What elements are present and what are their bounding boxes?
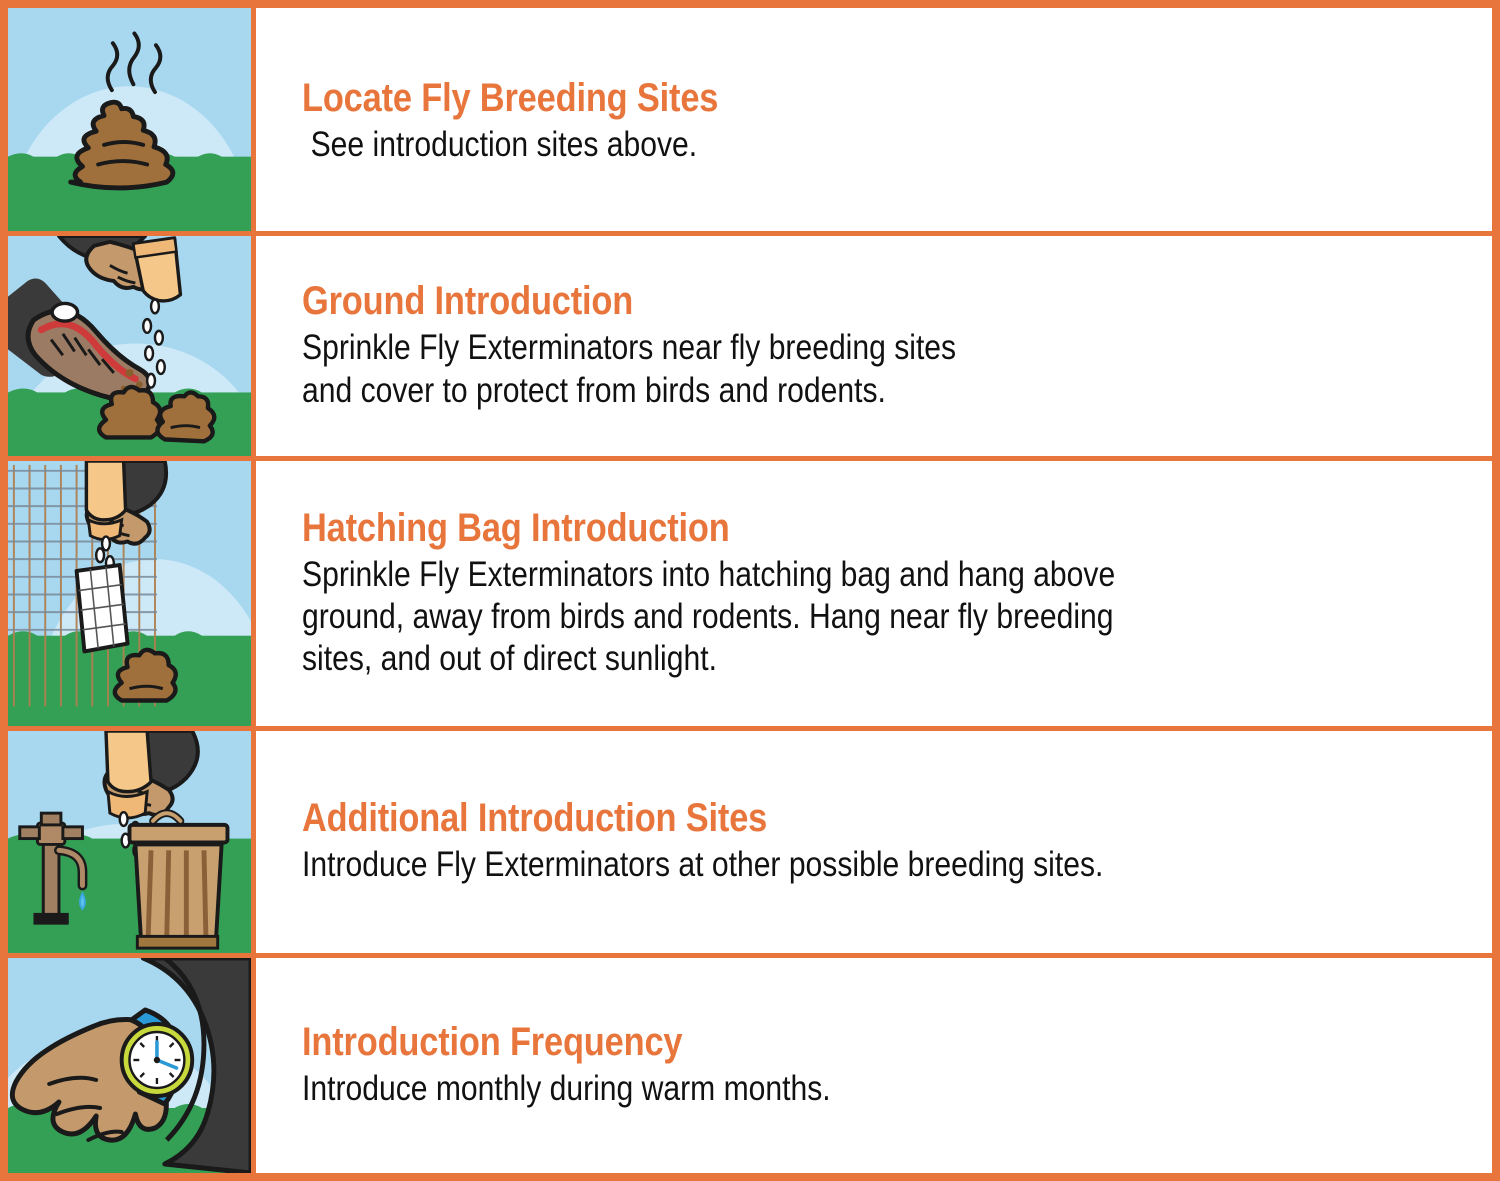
instruction-row: Ground Introduction Sprinkle Fly Extermi… bbox=[8, 236, 1492, 461]
instruction-row-list: Locate Fly Breeding Sites See introducti… bbox=[8, 8, 1492, 1173]
row-heading: Hatching Bag Introduction bbox=[302, 507, 1325, 550]
row-heading: Additional Introduction Sites bbox=[302, 797, 1325, 840]
instruction-text-block: Hatching Bag Introduction Sprinkle Fly E… bbox=[256, 461, 1492, 726]
row-heading: Locate Fly Breeding Sites bbox=[302, 77, 1325, 120]
row-body-text: See introduction sites above. bbox=[302, 124, 1325, 167]
row-body-text: Introduce monthly during warm months. bbox=[302, 1068, 1325, 1111]
boot-and-hand-sprinkling-packet-illustration bbox=[8, 236, 256, 456]
instruction-panel: Locate Fly Breeding Sites See introducti… bbox=[0, 0, 1500, 1181]
instruction-row: Introduction Frequency Introduce monthly… bbox=[8, 958, 1492, 1173]
instruction-row: Hatching Bag Introduction Sprinkle Fly E… bbox=[8, 461, 1492, 731]
instruction-text-block: Ground Introduction Sprinkle Fly Extermi… bbox=[256, 236, 1492, 456]
row-body-text: Sprinkle Fly Exterminators near fly bree… bbox=[302, 327, 1325, 412]
wrist-watch-on-arm-illustration bbox=[8, 958, 256, 1173]
instruction-row: Additional Introduction Sites Introduce … bbox=[8, 731, 1492, 958]
faucet-and-trash-can-illustration bbox=[8, 731, 256, 953]
steaming-manure-pile-illustration bbox=[8, 8, 256, 231]
row-heading: Ground Introduction bbox=[302, 280, 1325, 323]
instruction-text-block: Introduction Frequency Introduce monthly… bbox=[256, 958, 1492, 1173]
hatching-bag-on-fence-illustration bbox=[8, 461, 256, 726]
row-body-text: Introduce Fly Exterminators at other pos… bbox=[302, 844, 1325, 887]
instruction-text-block: Additional Introduction Sites Introduce … bbox=[256, 731, 1492, 953]
instruction-text-block: Locate Fly Breeding Sites See introducti… bbox=[256, 8, 1492, 231]
row-heading: Introduction Frequency bbox=[302, 1021, 1325, 1064]
row-body-text: Sprinkle Fly Exterminators into hatching… bbox=[302, 554, 1325, 680]
instruction-row: Locate Fly Breeding Sites See introducti… bbox=[8, 8, 1492, 236]
